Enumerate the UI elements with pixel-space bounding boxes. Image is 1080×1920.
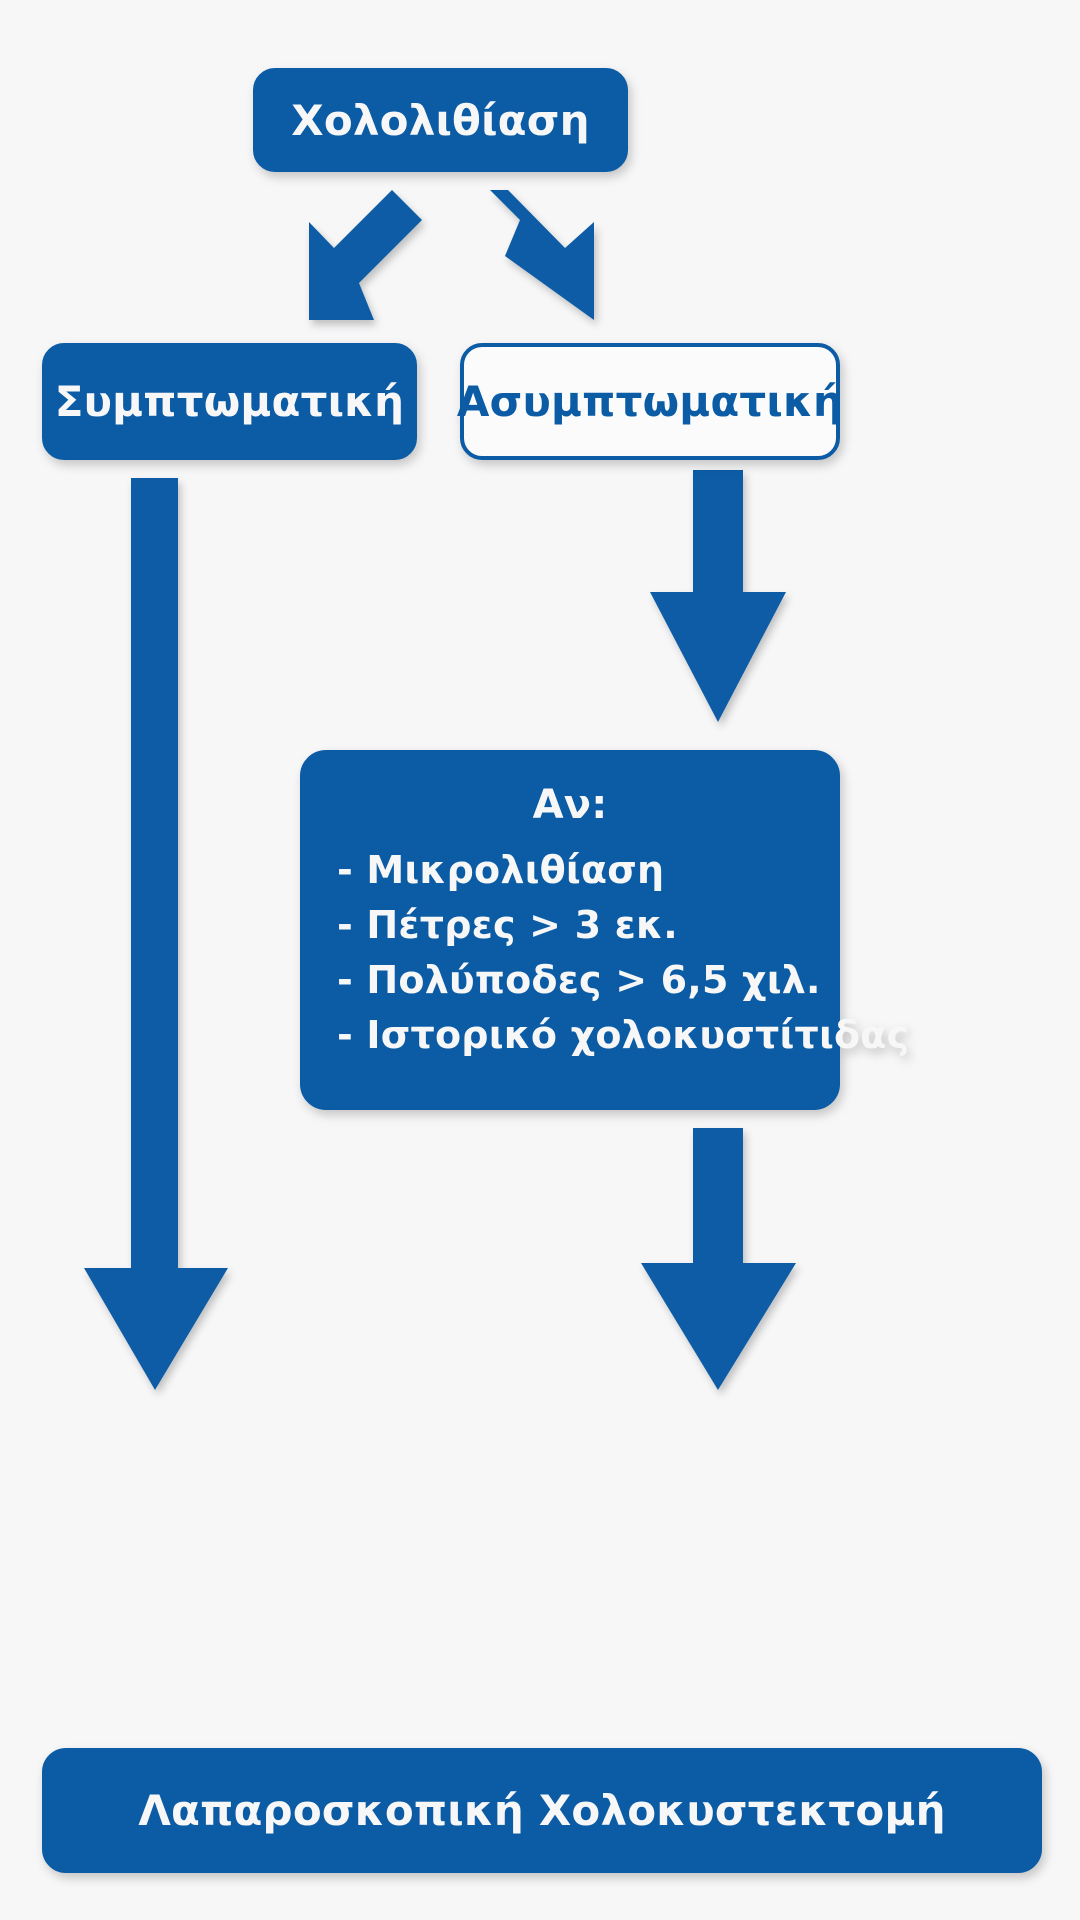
node-symptomatic[interactable]: Συμπτωματική: [42, 343, 417, 460]
node-symptomatic-label: Συμπτωματική: [55, 377, 405, 426]
edge-asymptomatic-to-criteria-arrow: [650, 470, 786, 722]
edge-root-to-asymptomatic-arrow: [490, 190, 594, 320]
node-criteria[interactable]: Αν: - Μικρολιθίαση - Πέτρες > 3 εκ. - Πο…: [300, 750, 840, 1110]
criteria-item: - Ιστορικό χολοκυστίτιδας: [337, 1008, 803, 1063]
node-criteria-title: Αν:: [337, 781, 803, 829]
criteria-item: - Πολύποδες > 6,5 χιλ.: [337, 953, 803, 1008]
edge-symptomatic-to-outcome-arrow: [84, 478, 228, 1390]
node-laparoscopic-cholecystectomy-label: Λαπαροσκοπική Χολοκυστεκτομή: [138, 1786, 945, 1835]
diagram-canvas: Χολολιθίαση Συμπτωματική Ασυμπτωματική Α…: [0, 0, 1080, 1920]
edge-root-to-symptomatic-arrow: [309, 190, 422, 320]
node-laparoscopic-cholecystectomy[interactable]: Λαπαροσκοπική Χολοκυστεκτομή: [42, 1748, 1042, 1873]
criteria-item: - Μικρολιθίαση: [337, 843, 803, 898]
edge-criteria-to-outcome-arrow: [641, 1128, 796, 1390]
node-asymptomatic-label: Ασυμπτωματική: [457, 377, 843, 426]
node-cholelithiasis-label: Χολολιθίαση: [291, 96, 590, 145]
node-asymptomatic[interactable]: Ασυμπτωματική: [460, 343, 840, 460]
node-cholelithiasis[interactable]: Χολολιθίαση: [253, 68, 628, 172]
criteria-item: - Πέτρες > 3 εκ.: [337, 898, 803, 953]
